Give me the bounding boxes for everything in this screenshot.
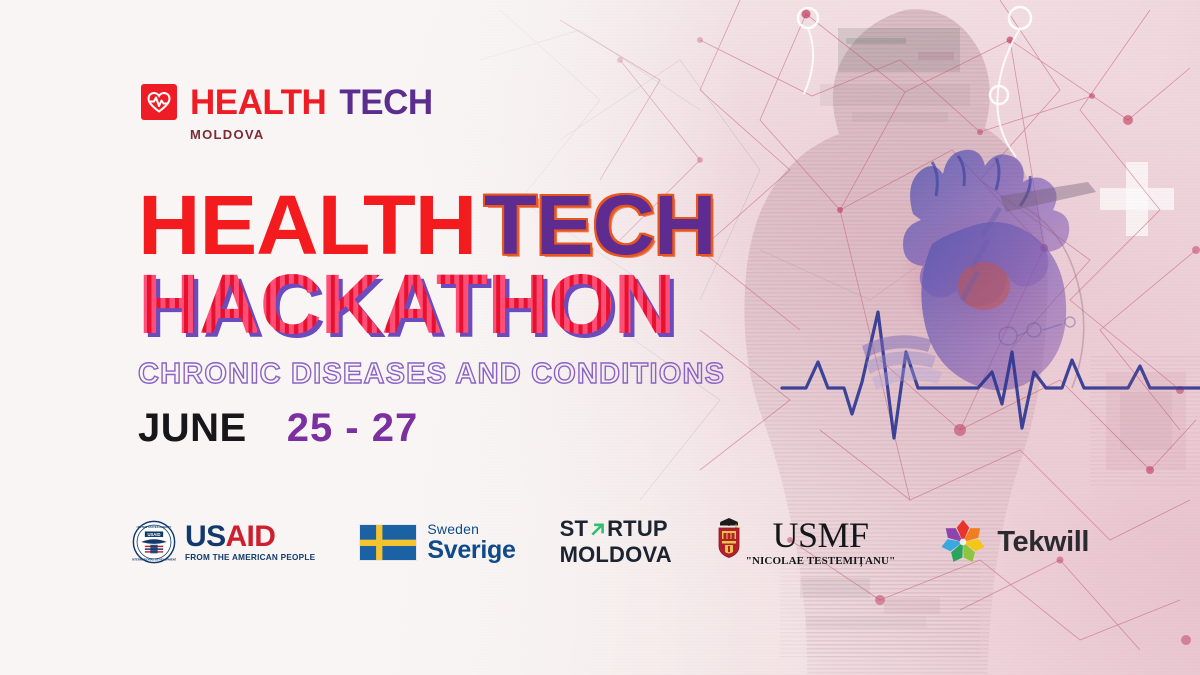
usmf-text: USMF "NICOLAE TESTEMIȚANU" xyxy=(746,517,896,567)
poster-canvas: HEALTH TECH MOLDOVA HEALTH TECH HACKATHO… xyxy=(0,0,1200,675)
headset-block xyxy=(820,28,970,122)
event-subtitle: CHRONIC DISEASES AND CONDITIONS xyxy=(138,360,725,389)
green-arrow-icon xyxy=(589,521,606,538)
sponsor-row: UNITED STATES AGENCY INTERNATIONAL DEVEL… xyxy=(132,517,1089,567)
svg-text:UNITED STATES AGENCY: UNITED STATES AGENCY xyxy=(137,525,172,529)
brand-logo: HEALTH TECH MOLDOVA xyxy=(141,84,433,142)
human-figure-silhouette xyxy=(690,0,1070,675)
title-word-health: HEALTH xyxy=(138,186,476,266)
usmf-subtitle: "NICOLAE TESTEMIȚANU" xyxy=(746,555,896,567)
sweden-text: Sweden Sverige xyxy=(427,522,515,563)
brand-logo-row: HEALTH TECH xyxy=(141,84,433,120)
tekwill-wordmark: Tekwill xyxy=(997,528,1089,557)
sponsor-usaid[interactable]: UNITED STATES AGENCY INTERNATIONAL DEVEL… xyxy=(132,520,315,564)
brand-wordmark: HEALTH TECH xyxy=(190,85,433,120)
svg-text:USAID: USAID xyxy=(147,532,160,537)
usaid-wordmark: USAID xyxy=(185,522,315,552)
tekwill-star-icon xyxy=(939,518,987,566)
anatomical-heart-illustration xyxy=(900,150,1069,391)
data-block-texture xyxy=(1090,356,1200,486)
startup-word-rtup: RTUP xyxy=(607,518,668,540)
ribbon-fan xyxy=(862,335,942,390)
event-date-days: 25 - 27 xyxy=(287,408,419,448)
sponsor-sweden[interactable]: Sweden Sverige xyxy=(359,522,515,563)
usmf-wordmark: USMF xyxy=(773,517,869,553)
circuit-glyphs xyxy=(999,317,1075,345)
title-word-tech: TECH xyxy=(484,186,715,266)
data-block-texture-2 xyxy=(780,560,980,660)
brand-word-health: HEALTH xyxy=(190,85,326,120)
medical-cross-glyph xyxy=(1100,162,1174,236)
sponsor-startup-moldova[interactable]: ST RTUP MOLDOVA xyxy=(560,518,672,566)
usaid-tagline: FROM THE AMERICAN PEOPLE xyxy=(185,553,315,562)
usaid-word-us: US xyxy=(185,520,225,553)
startup-word-st: ST xyxy=(560,518,589,540)
startup-line-2: MOLDOVA xyxy=(560,544,672,566)
sponsor-tekwill[interactable]: Tekwill xyxy=(939,518,1089,566)
brand-word-tech: TECH xyxy=(339,85,432,120)
sponsor-usmf[interactable]: USMF "NICOLAE TESTEMIȚANU" xyxy=(716,517,896,567)
usaid-seal-icon: UNITED STATES AGENCY INTERNATIONAL DEVEL… xyxy=(132,520,176,564)
title-word-hackathon: HACKATHON xyxy=(138,262,675,346)
sweden-label-en: Sweden xyxy=(427,522,515,536)
usmf-crest-icon xyxy=(716,518,742,558)
sweden-label-sv: Sverige xyxy=(427,538,515,563)
sweden-flag-icon xyxy=(359,524,417,561)
title-line-2-wrap: HACKATHON HACKATHON xyxy=(138,262,725,348)
event-date-month: JUNE xyxy=(138,408,247,448)
ecg-waveform-line xyxy=(782,312,1200,438)
usaid-text: USAID FROM THE AMERICAN PEOPLE xyxy=(185,522,315,562)
event-dateline: JUNE 25 - 27 xyxy=(138,408,725,448)
usaid-word-aid: AID xyxy=(225,520,275,553)
brand-country-label: MOLDOVA xyxy=(190,127,433,142)
svg-text:INTERNATIONAL DEVELOPMENT: INTERNATIONAL DEVELOPMENT xyxy=(132,557,176,561)
title-line-1: HEALTH TECH xyxy=(138,186,725,266)
heart-pulse-icon xyxy=(141,84,177,120)
startup-line-1: ST RTUP xyxy=(560,518,668,540)
network-ring-nodes xyxy=(798,7,1031,104)
title-block: HEALTH TECH HACKATHON HACKATHON CHRONIC … xyxy=(138,186,725,448)
probe-arm xyxy=(962,182,1096,388)
